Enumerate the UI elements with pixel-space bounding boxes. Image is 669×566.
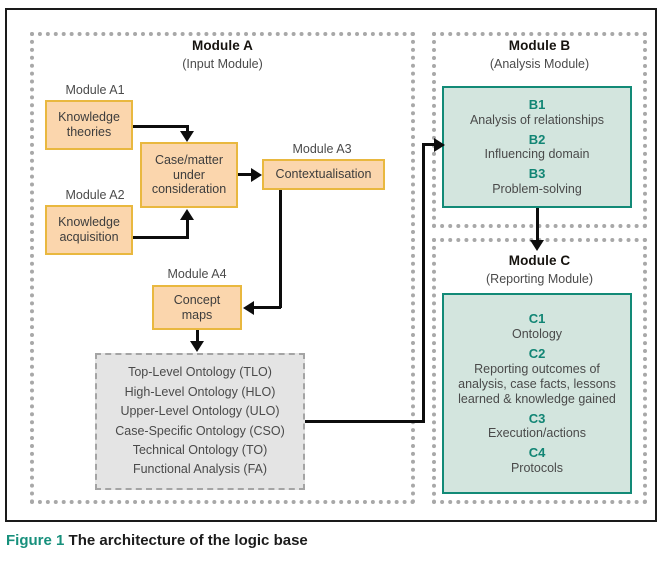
connector-module-b-to-c — [536, 208, 539, 244]
arrowhead-a2-to-case — [180, 209, 194, 220]
module-a-subtitle: (Input Module) — [30, 57, 415, 71]
connector-contextualisation-to-concept — [254, 306, 281, 309]
module-b-box: B1 Analysis of relationships B2 Influenc… — [442, 86, 632, 208]
module-b-subtitle: (Analysis Module) — [432, 57, 647, 71]
module-c-box: C1 Ontology C2 Reporting outcomes of ana… — [442, 293, 632, 494]
module-c-entry-desc: Protocols — [511, 461, 563, 476]
module-b-entry-code: B2 — [529, 132, 546, 148]
module-a4-box[interactable]: Conceptmaps — [152, 285, 242, 330]
module-b-entry-code: B1 — [529, 97, 546, 113]
module-a2-box-text: Knowledgeacquisition — [58, 215, 120, 245]
connector-ontology-right — [305, 420, 424, 423]
connector-a1-to-case — [133, 125, 189, 128]
module-c-subtitle: (Reporting Module) — [432, 272, 647, 286]
figure-caption: Figure 1 The architecture of the logic b… — [6, 532, 308, 549]
module-b-entry-desc: Influencing domain — [485, 147, 590, 162]
module-b-entry-desc: Problem-solving — [492, 182, 582, 197]
module-a1-label: Module A1 — [40, 83, 150, 97]
module-a3-label: Module A3 — [262, 142, 382, 156]
figure-caption-text: The architecture of the logic base — [69, 532, 308, 549]
module-c-entry-code: C4 — [529, 445, 546, 461]
ontology-item: Upper-Level Ontology (ULO) — [120, 402, 279, 421]
ontology-item: High-Level Ontology (HLO) — [125, 383, 276, 402]
arrowhead-case-to-contextualisation — [251, 168, 262, 182]
module-b-title: Module B — [432, 38, 647, 53]
arrowhead-contextualisation-to-concept — [243, 301, 254, 315]
connector-a2-to-case-vertical — [186, 218, 189, 238]
ontology-item: Technical Ontology (TO) — [133, 441, 268, 460]
connector-a2-to-case — [133, 236, 189, 239]
module-a3-box-text: Contextualisation — [276, 167, 372, 182]
arrowhead-module-b-to-c — [530, 240, 544, 251]
ontology-item: Functional Analysis (FA) — [133, 460, 267, 479]
arrowhead-concept-to-ontology — [190, 341, 204, 352]
module-a-title: Module A — [30, 38, 415, 53]
module-c-entry-desc: Execution/actions — [488, 426, 586, 441]
module-a4-label: Module A4 — [142, 267, 252, 281]
case-matter-box[interactable]: Case/matter under consideration — [140, 142, 238, 208]
module-a3-box[interactable]: Contextualisation — [262, 159, 385, 190]
figure-page: Module A (Input Module) Module A1 Knowle… — [0, 0, 669, 566]
module-c-entry-desc: Reporting outcomes of analysis, case fac… — [450, 362, 624, 407]
module-a4-box-text: Conceptmaps — [174, 293, 221, 323]
module-a2-label: Module A2 — [40, 188, 150, 202]
connector-contextualisation-down — [279, 190, 282, 308]
figure-frame: Module A (Input Module) Module A1 Knowle… — [5, 8, 657, 522]
case-matter-box-text: Case/matter under consideration — [152, 153, 226, 197]
module-b-entry-code: B3 — [529, 166, 546, 182]
module-a1-box[interactable]: Knowledgetheories — [45, 100, 133, 150]
module-c-entry-code: C3 — [529, 411, 546, 427]
arrowhead-a1-to-case — [180, 131, 194, 142]
module-b-entry-desc: Analysis of relationships — [470, 113, 604, 128]
connector-ontology-up — [422, 143, 425, 423]
ontology-item: Top-Level Ontology (TLO) — [128, 363, 272, 382]
module-a2-box[interactable]: Knowledgeacquisition — [45, 205, 133, 255]
module-c-entry-desc: Ontology — [512, 327, 562, 342]
ontology-box: Top-Level Ontology (TLO) High-Level Onto… — [95, 353, 305, 490]
module-c-entry-code: C2 — [529, 346, 546, 362]
module-a1-box-text: Knowledgetheories — [58, 110, 120, 140]
module-c-entry-code: C1 — [529, 311, 546, 327]
module-c-title: Module C — [432, 253, 647, 268]
ontology-item: Case-Specific Ontology (CSO) — [115, 422, 285, 441]
figure-number: Figure 1 — [6, 532, 64, 549]
arrowhead-ontology-into-module-b — [434, 138, 445, 152]
